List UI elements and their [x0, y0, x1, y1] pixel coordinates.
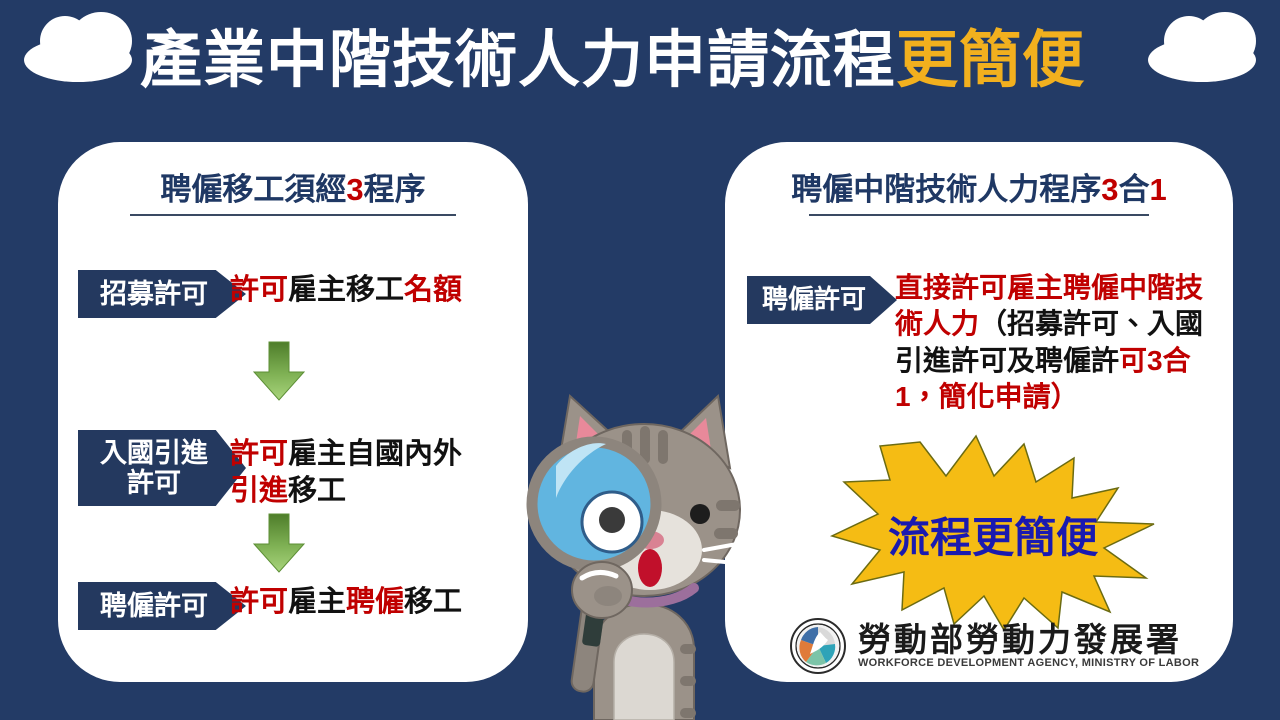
- cloud-icon-right: [1148, 38, 1256, 82]
- page-title: 產業中階技術人力申請流程更簡便: [140, 22, 1140, 100]
- cloud-icon-left: [24, 38, 132, 82]
- step-2-badge: 入國引進 許可: [78, 430, 246, 506]
- agency-logo: 勞動部勞動力發展署 WORKFORCE DEVELOPMENT AGENCY, …: [790, 618, 1199, 674]
- highlight-text: 許可: [230, 438, 288, 470]
- card-right-heading-number: 3: [1101, 172, 1118, 207]
- starburst-callout: 流程更簡便: [828, 432, 1158, 632]
- card-right-heading-tail: 合: [1119, 172, 1150, 207]
- step-3-description: 許可雇主聘僱移工: [230, 584, 462, 621]
- agency-name-en: WORKFORCE DEVELOPMENT AGENCY, MINISTRY O…: [858, 657, 1199, 669]
- plain-text: 移工: [288, 475, 346, 507]
- card-left-heading-number: 3: [346, 172, 363, 207]
- highlight-text: 名額: [404, 274, 462, 306]
- card-right-heading-text: 聘僱中階技術人力程序: [791, 172, 1101, 207]
- combined-step-badge: 聘僱許可: [747, 276, 897, 324]
- page-title-main: 產業中階技術人力申請流程: [140, 26, 896, 95]
- card-right-heading-number-2: 1: [1150, 172, 1167, 207]
- step-1-badge: 招募許可: [78, 270, 246, 318]
- highlight-text: 許可: [230, 274, 288, 306]
- card-right-heading: 聘僱中階技術人力程序3合1: [725, 164, 1233, 209]
- highlight-text: 聘僱: [346, 586, 404, 618]
- plain-text: 雇主: [288, 586, 346, 618]
- cat-with-magnifying-glass-icon: [498, 382, 790, 720]
- infographic-slide: 產業中階技術人力申請流程更簡便 聘僱移工須經3程序 招募許可 許可雇主移工名額: [0, 0, 1280, 720]
- agency-name-zh: 勞動部勞動力發展署: [858, 623, 1199, 657]
- card-right-divider: [809, 214, 1149, 216]
- combined-step-description: 直接許可雇主聘僱中階技術人力（招募許可、入國引進許可及聘僱許可3合1，簡化申請）: [895, 270, 1225, 416]
- step-1-description: 許可雇主移工名額: [230, 272, 462, 309]
- card-left-heading-text: 聘僱移工須經: [160, 172, 346, 207]
- header-banner: 產業中階技術人力申請流程更簡便: [0, 0, 1280, 120]
- step-2-description: 許可雇主自國內外引進移工: [230, 436, 462, 510]
- card-left-heading: 聘僱移工須經3程序: [58, 164, 528, 209]
- agency-emblem-icon: [790, 618, 846, 674]
- highlight-text: 許可: [230, 586, 288, 618]
- down-arrow-icon-2: [248, 512, 310, 574]
- highlight-text: 引進: [230, 475, 288, 507]
- process-step-2: 入國引進 許可 許可雇主自國內外引進移工: [58, 430, 528, 510]
- process-step-1: 招募許可 許可雇主移工名額: [58, 270, 528, 326]
- card-left-divider: [130, 214, 456, 216]
- plain-text: 雇主移工: [288, 274, 404, 306]
- agency-name-block: 勞動部勞動力發展署 WORKFORCE DEVELOPMENT AGENCY, …: [858, 623, 1199, 669]
- page-title-accent: 更簡便: [896, 26, 1085, 95]
- step-3-badge: 聘僱許可: [78, 582, 246, 630]
- down-arrow-icon-1: [248, 340, 310, 402]
- process-step-3: 聘僱許可 許可雇主聘僱移工: [58, 582, 528, 638]
- plain-text: 移工: [404, 586, 462, 618]
- plain-text: 雇主自國內外: [288, 438, 462, 470]
- card-left-heading-tail: 程序: [364, 172, 426, 207]
- card-current-process: 聘僱移工須經3程序 招募許可 許可雇主移工名額 入國引進 許可 許可雇主: [58, 142, 528, 682]
